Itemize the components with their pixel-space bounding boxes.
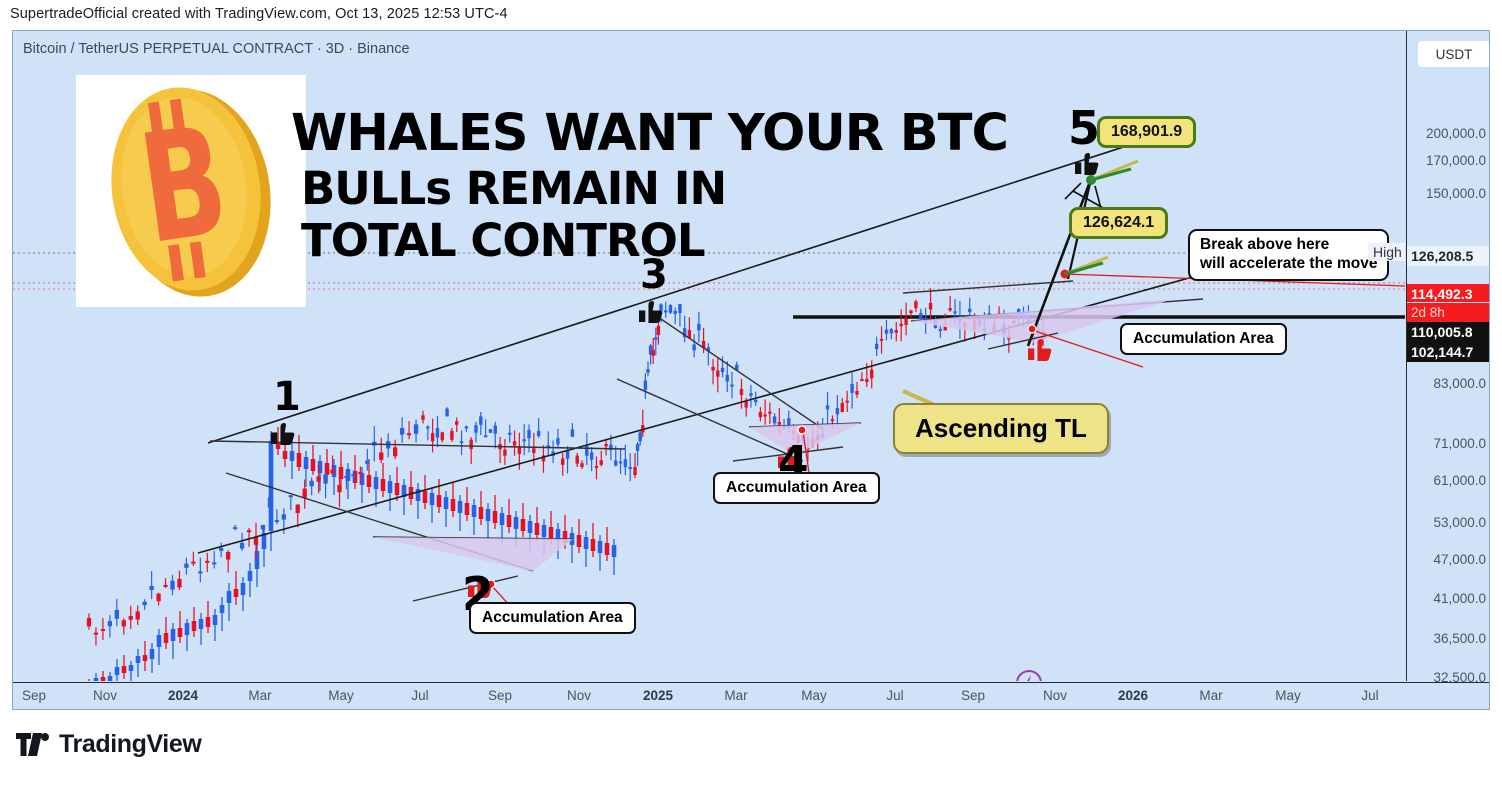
price-tick-150000: 150,000.0: [1426, 186, 1486, 201]
time-tick-17: Jul: [1361, 688, 1378, 703]
screenshot-root: SupertradeOfficial created with TradingV…: [0, 0, 1502, 785]
target-price-mid: 126,624.1: [1069, 207, 1168, 239]
tradingview-logo-icon: [16, 733, 50, 756]
anchor-dot-acc5: [1028, 325, 1036, 333]
price-tick-200000: 200,000.0: [1426, 126, 1486, 141]
time-tick-16: May: [1275, 688, 1301, 703]
tradingview-wordmark: TradingView: [59, 730, 201, 759]
price-tick-61000: 61,000.0: [1433, 473, 1486, 488]
price-badge-102k: 102,144.7: [1407, 342, 1490, 362]
accumulation-label-2: Accumulation Area: [469, 602, 636, 634]
price-scale[interactable]: 200,000.0 170,000.0 150,000.0 120,000.0 …: [1406, 31, 1490, 681]
time-tick-4: May: [328, 688, 354, 703]
chart-pane[interactable]: B WHALES WANT YOUR BTC BULLs REMAIN IN T…: [12, 30, 1490, 710]
time-tick-15: Mar: [1199, 688, 1222, 703]
tradingview-footer[interactable]: TradingView: [16, 730, 201, 759]
anchor-dot-acc4: [798, 426, 806, 434]
credit-bar: SupertradeOfficial created with TradingV…: [0, 0, 1502, 28]
price-badge-countdown: 114,492.3: [1407, 284, 1490, 302]
price-tick-47000: 47,000.0: [1433, 552, 1486, 567]
price-tick-71000: 71,000.0: [1433, 436, 1486, 451]
credit-text: SupertradeOfficial created with TradingV…: [0, 6, 508, 22]
price-tick-53000: 53,000.0: [1433, 515, 1486, 530]
time-tick-2: 2024: [168, 688, 198, 703]
break-above-line-2: will accelerate the move: [1200, 255, 1377, 274]
chart-plot-area[interactable]: B WHALES WANT YOUR BTC BULLs REMAIN IN T…: [13, 31, 1405, 681]
headline-line-2: BULLs REMAIN IN: [301, 162, 726, 215]
high-badge: High: [1368, 243, 1405, 261]
price-tick-41000: 41,000.0: [1433, 591, 1486, 606]
price-badge-countdown-time: 2d 8h: [1407, 303, 1490, 322]
time-tick-10: May: [801, 688, 827, 703]
currency-badge[interactable]: USDT: [1418, 41, 1490, 67]
time-tick-7: Nov: [567, 688, 591, 703]
price-tick-36500: 36,500.0: [1433, 631, 1486, 646]
target-price-high: 168,901.9: [1097, 116, 1196, 148]
ascending-tl-label: Ascending TL: [893, 403, 1109, 454]
time-tick-11: Jul: [886, 688, 903, 703]
time-tick-5: Jul: [411, 688, 428, 703]
accumulation-label-5: Accumulation Area: [1120, 323, 1287, 355]
break-above-callout: Break above here will accelerate the mov…: [1188, 229, 1389, 281]
pivot-marker-1: 1: [273, 377, 301, 417]
time-tick-9: Mar: [724, 688, 747, 703]
time-tick-13: Nov: [1043, 688, 1067, 703]
time-tick-6: Sep: [488, 688, 512, 703]
price-tick-83000: 83,000.0: [1433, 376, 1486, 391]
time-tick-3: Mar: [248, 688, 271, 703]
time-tick-0: Sep: [22, 688, 46, 703]
time-scale[interactable]: Sep Nov 2024 Mar May Jul Sep Nov 2025 Ma…: [13, 682, 1490, 710]
symbol-legend[interactable]: Bitcoin / TetherUS PERPETUAL CONTRACT · …: [23, 41, 410, 57]
price-tick-170000: 170,000.0: [1426, 153, 1486, 168]
time-tick-1: Nov: [93, 688, 117, 703]
pivot-marker-3: 3: [640, 255, 668, 295]
time-tick-14: 2026: [1118, 688, 1148, 703]
price-badge-110k: 110,005.8: [1407, 322, 1490, 342]
time-tick-8: 2025: [643, 688, 673, 703]
pivot-marker-5: 5: [1068, 105, 1100, 151]
accumulation-label-4: Accumulation Area: [713, 472, 880, 504]
break-above-line-1: Break above here: [1200, 236, 1377, 255]
time-tick-12: Sep: [961, 688, 985, 703]
price-badge-last: 126,208.5: [1407, 246, 1490, 266]
headline-line-1: WHALES WANT YOUR BTC: [291, 104, 1008, 163]
bitcoin-logo: B: [76, 75, 306, 307]
